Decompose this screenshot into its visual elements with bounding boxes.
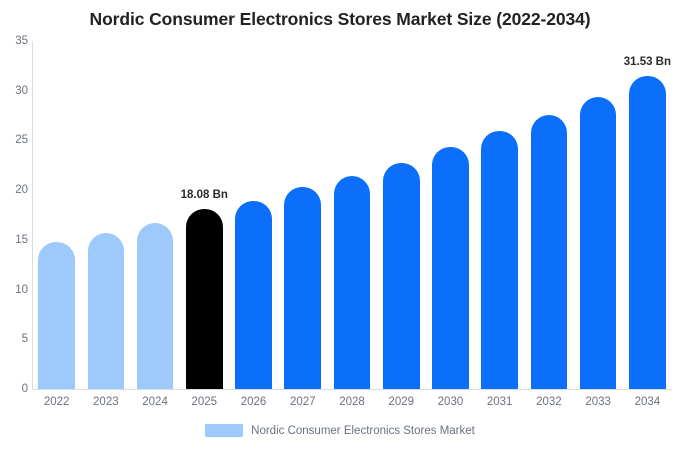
bar[interactable] <box>629 76 666 389</box>
bar-group <box>383 41 420 389</box>
bar[interactable] <box>235 201 272 389</box>
bar[interactable] <box>383 163 420 389</box>
bar-group: 31.53 Bn <box>629 41 666 389</box>
y-axis-tick-label: 30 <box>2 85 28 97</box>
bar-group <box>284 41 321 389</box>
bar-group <box>137 41 174 389</box>
bar-group <box>334 41 371 389</box>
bar-group <box>235 41 272 389</box>
bar-value-label: 31.53 Bn <box>624 56 671 68</box>
bar-group <box>38 41 75 389</box>
x-axis-tick-label: 2028 <box>327 396 376 408</box>
bar-group <box>580 41 617 389</box>
bar[interactable] <box>334 176 371 389</box>
bar[interactable] <box>186 209 223 389</box>
bar-chart: Nordic Consumer Electronics Stores Marke… <box>0 0 680 450</box>
bar-value-label: 18.08 Bn <box>181 189 228 201</box>
y-axis-tick-label: 0 <box>2 383 28 395</box>
bar[interactable] <box>88 233 125 389</box>
y-axis-tick-label: 10 <box>2 284 28 296</box>
bar-group <box>88 41 125 389</box>
x-axis-tick-label: 2033 <box>574 396 623 408</box>
y-axis-tick-label: 35 <box>2 35 28 47</box>
bar[interactable] <box>284 187 321 389</box>
y-axis-tick-label: 20 <box>2 184 28 196</box>
x-axis-tick-label: 2022 <box>32 396 81 408</box>
x-axis-tick-label: 2029 <box>377 396 426 408</box>
bar[interactable] <box>481 131 518 389</box>
chart-title: Nordic Consumer Electronics Stores Marke… <box>0 9 680 30</box>
bar[interactable] <box>432 147 469 389</box>
bar-group: 18.08 Bn <box>186 41 223 389</box>
legend-label: Nordic Consumer Electronics Stores Marke… <box>251 425 475 437</box>
x-axis-tick-label: 2026 <box>229 396 278 408</box>
x-axis-tick-label: 2030 <box>426 396 475 408</box>
y-axis-tick-label: 15 <box>2 234 28 246</box>
bar-group <box>481 41 518 389</box>
bar[interactable] <box>531 115 568 389</box>
y-axis-tick-label: 25 <box>2 134 28 146</box>
legend-item[interactable]: Nordic Consumer Electronics Stores Marke… <box>205 424 475 437</box>
x-axis-line <box>32 389 672 390</box>
x-axis-tick-label: 2027 <box>278 396 327 408</box>
x-axis-tick-label: 2024 <box>130 396 179 408</box>
bar[interactable] <box>137 223 174 389</box>
x-axis-tick-label: 2025 <box>180 396 229 408</box>
chart-legend: Nordic Consumer Electronics Stores Marke… <box>0 424 680 437</box>
bar[interactable] <box>580 97 617 389</box>
bar-group <box>531 41 568 389</box>
x-axis-tick-label: 2032 <box>524 396 573 408</box>
y-axis-tick-label: 5 <box>2 333 28 345</box>
x-axis-tick-label: 2031 <box>475 396 524 408</box>
legend-swatch <box>205 424 243 437</box>
plot-area: 18.08 Bn31.53 Bn <box>32 41 672 389</box>
x-axis-tick-label: 2023 <box>81 396 130 408</box>
y-axis: 05101520253035 <box>0 0 28 450</box>
x-axis-tick-label: 2034 <box>623 396 672 408</box>
bar[interactable] <box>38 242 75 389</box>
bar-group <box>432 41 469 389</box>
